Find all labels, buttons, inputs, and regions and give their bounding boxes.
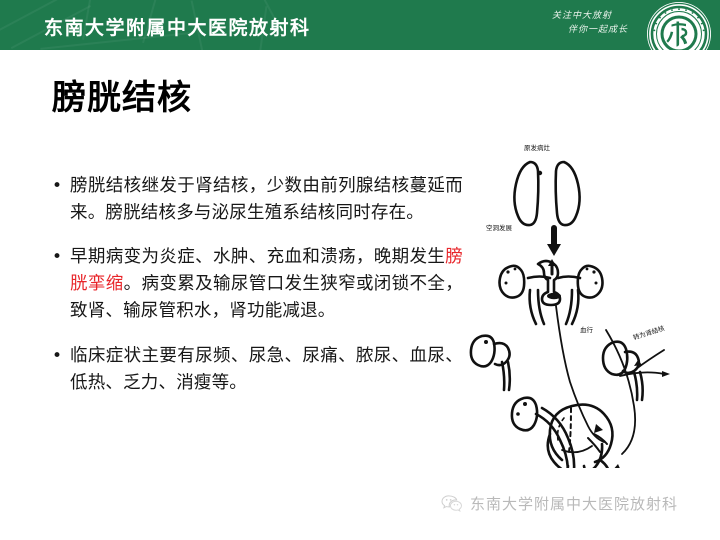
bullet-text: 早期病变为炎症、水肿、充血和溃疡，晚期发生 [70, 247, 445, 267]
bullet-text: 。病变累及输尿管口发生狭窄或闭锁不全，致肾、输尿管积水，肾功能减退。 [70, 274, 463, 321]
zhongda-hospital-logo [646, 1, 712, 50]
header-department-title: 东南大学附属中大医院放射科 [44, 13, 311, 40]
diagram-label-cavity-lesion: 空洞发展 [486, 223, 513, 232]
ureteric-orifice-mark [588, 438, 600, 452]
lateral-annotation-arrow-curve [636, 350, 664, 369]
footer-watermark: 东南大学附属中大医院放射科 [440, 492, 678, 514]
bullet-marker: • [52, 244, 62, 271]
left-isolated-ureter-inner [508, 362, 510, 390]
right-lung-outline [556, 162, 580, 225]
left-isolated-kidney-focus-dot [484, 340, 488, 344]
bladder-trigone-line [562, 446, 592, 452]
left-descending-ureter [530, 290, 536, 324]
downward-arrow-head [547, 244, 561, 256]
left-isolated-kidney-outline [471, 336, 495, 367]
bullet-item: •早期病变为炎症、水肿、充血和溃疡，晚期发生膀胱挛缩。病变累及输尿管口发生狭窄或… [48, 244, 463, 325]
lung-primary-focus-dot [538, 171, 542, 175]
bladder-focus-marker [547, 293, 561, 299]
lateral-annotation-sweep-head [662, 371, 670, 377]
right-isolated-ureter [634, 372, 637, 400]
page-title: 膀胱结核 [52, 70, 192, 119]
left-lung-outline [514, 162, 538, 225]
urethra-right-wall [582, 466, 587, 468]
diagram-label-lateral-spread: 转为肾结核 [632, 323, 666, 342]
header-slogan-line2: 伴你一起成长 [552, 23, 628, 37]
hematogenous-arrow-head-1 [594, 424, 603, 433]
content-bullet-list: •膀胱结核继发于肾结核，少数由前列腺结核蔓延而来。膀胱结核多与泌尿生殖系结核同时… [48, 155, 463, 414]
bullet-text: 临床症状主要有尿频、尿急、尿痛、脓尿、血尿、低热、乏力、消瘦等。 [70, 346, 463, 393]
header-slogan: 关注中大放射 伴你一起成长 [552, 9, 628, 37]
ureteric-orifice-mark-2 [594, 434, 607, 444]
bullet-item: •膀胱结核继发于肾结核，少数由前列腺结核蔓延而来。膀胱结核多与泌尿生殖系结核同时… [48, 173, 463, 227]
header-slogan-line1: 关注中大放射 [552, 11, 612, 21]
diagram-label-primary-lesion: 原发病灶 [524, 143, 551, 152]
left-kidney-upper-outline [500, 266, 525, 298]
lateral-annotation-arrow-head [634, 360, 642, 366]
bullet-item: •临床症状主要有尿频、尿急、尿痛、脓尿、血尿、低热、乏力、消瘦等。 [48, 343, 463, 397]
right-isolated-ureter-inner [640, 372, 643, 400]
diagram-svg: 原发病灶 空洞发展 转为肾结核 血行 [468, 138, 710, 468]
urogenital-tuberculosis-spread-diagram: 原发病灶 空洞发展 转为肾结核 血行 [468, 138, 710, 468]
left-isolated-ureter [502, 362, 504, 390]
right-kidney-upper-outline [578, 266, 603, 298]
bullet-marker: • [52, 343, 62, 370]
diagram-label-hematogenous: 血行 [580, 325, 594, 334]
bullet-marker: • [52, 173, 62, 200]
left-renal-vessel [528, 277, 550, 279]
hematogenous-arrow-head-2 [612, 464, 622, 468]
wechat-account-icon [440, 492, 462, 514]
bullet-text: 膀胱结核继发于肾结核，少数由前列腺结核蔓延而来。膀胱结核多与泌尿生殖系结核同时存… [70, 176, 463, 223]
hematogenous-route-curve-right [606, 330, 635, 454]
header-bar: 东南大学附属中大医院放射科 关注中大放射 伴你一起成长 [0, 0, 720, 50]
right-descending-ureter-inner [566, 290, 572, 324]
footer-watermark-text: 东南大学附属中大医院放射科 [470, 493, 678, 514]
right-renal-vessel [558, 277, 580, 279]
urethra-left-wall [565, 466, 570, 468]
lower-left-kidney-focus-dots [516, 402, 527, 416]
